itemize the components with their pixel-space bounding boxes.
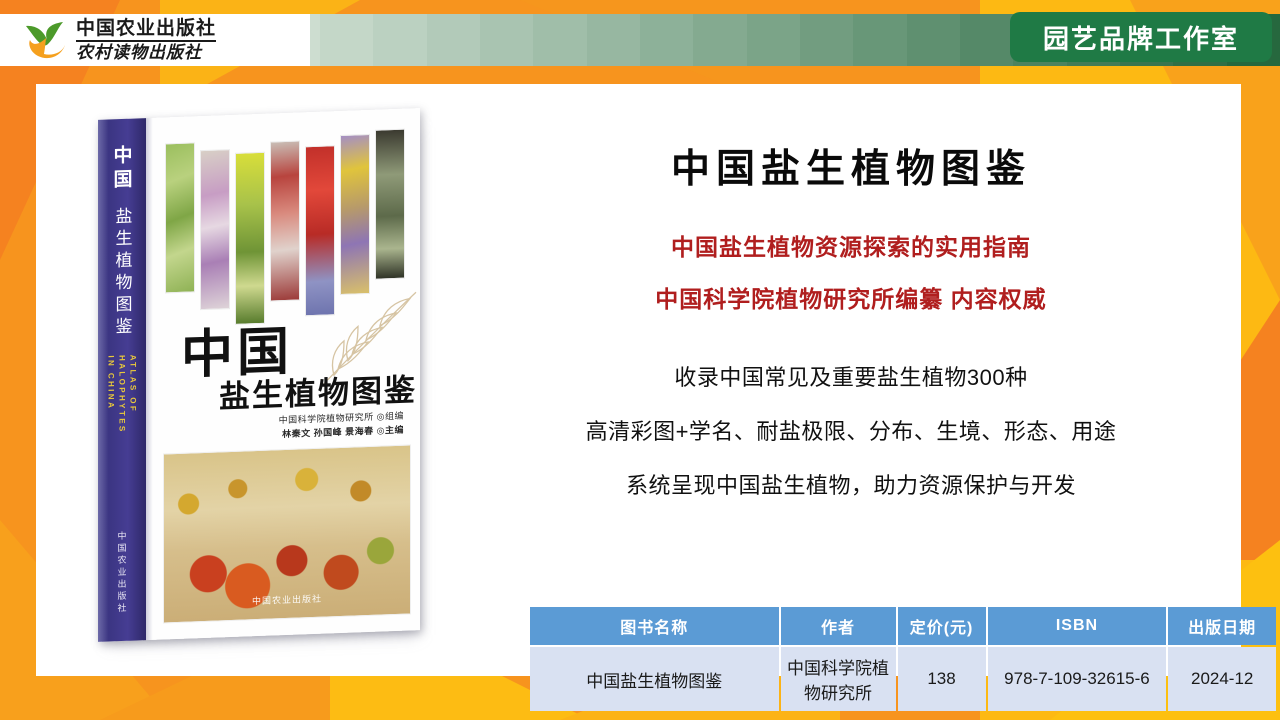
gradient-bar-12 xyxy=(587,14,640,66)
book-spine: 中国 盐生植物图鉴 ATLAS OF HALOPHYTES IN CHINA 中… xyxy=(98,118,146,642)
column-header-author: 作者 xyxy=(781,607,896,645)
gradient-bar-17 xyxy=(853,14,906,66)
gradient-bar-7 xyxy=(320,14,373,66)
spine-title-top: 中国 xyxy=(109,145,136,194)
cover-bottom-photo xyxy=(163,444,411,623)
description-line-2: 高清彩图+学名、耐盐极限、分布、生境、形态、用途 xyxy=(491,414,1211,446)
column-header-price: 定价(元) xyxy=(898,607,986,645)
gradient-bar-11 xyxy=(533,14,586,66)
header-band: 中国农业出版社 农村读物出版社 园艺品牌工作室 xyxy=(0,0,1280,72)
cover-photo-4 xyxy=(270,140,300,301)
publisher-name-line2: 农村读物出版社 xyxy=(76,42,216,62)
gradient-bar-19 xyxy=(960,14,1013,66)
cover-photo-3 xyxy=(235,152,265,325)
cell-book-author: 中国科学院植物研究所 xyxy=(781,647,896,711)
content-card: 中国 盐生植物图鉴 ATLAS OF HALOPHYTES IN CHINA 中… xyxy=(36,84,1241,676)
cover-photo-2 xyxy=(200,149,230,310)
publisher-logo: 中国农业出版社 农村读物出版社 xyxy=(0,14,310,66)
cell-book-name: 中国盐生植物图鉴 xyxy=(530,647,779,711)
book-cover: 中国 盐生植物图鉴 ATLAS OF HALOPHYTES IN CHINA 中… xyxy=(98,114,428,644)
book-info-panel: 中国盐生植物图鉴 中国盐生植物资源探索的实用指南 中国科学院植物研究所编纂 内容… xyxy=(491,114,1211,500)
book-spec-table: 图书名称 作者 定价(元) ISBN 出版日期 中国盐生植物图鉴 中国科学院植物… xyxy=(528,605,1278,713)
studio-badge-label: 园艺品牌工作室 xyxy=(1043,19,1239,56)
gradient-bar-8 xyxy=(373,14,426,66)
page-title: 中国盐生植物图鉴 xyxy=(491,138,1211,194)
sprout-logo-icon xyxy=(22,20,68,60)
highlight-line-1: 中国盐生植物资源探索的实用指南 xyxy=(491,228,1211,262)
description-line-1: 收录中国常见及重要盐生植物300种 xyxy=(491,360,1211,392)
table-header-row: 图书名称 作者 定价(元) ISBN 出版日期 xyxy=(530,607,1276,645)
book-front-face: 中国 盐生植物图鉴 中国科学院植物研究所 ◎组编 林秦文 孙国峰 景海春 ◎主编 xyxy=(153,108,420,640)
column-header-isbn: ISBN xyxy=(988,607,1167,645)
cell-book-price: 138 xyxy=(898,647,986,711)
gradient-bar-15 xyxy=(747,14,800,66)
book-body: 中国 盐生植物图鉴 ATLAS OF HALOPHYTES IN CHINA 中… xyxy=(98,108,420,642)
gradient-bar-14 xyxy=(693,14,746,66)
cell-book-isbn: 978-7-109-32615-6 xyxy=(988,647,1167,711)
highlight-line-2: 中国科学院植物研究所编纂 内容权威 xyxy=(491,280,1211,314)
spine-publisher: 中国农业出版社 xyxy=(116,531,129,615)
cover-photo-7 xyxy=(375,129,405,280)
gradient-bar-13 xyxy=(640,14,693,66)
spine-english-title: ATLAS OF HALOPHYTES IN CHINA xyxy=(106,354,139,451)
gradient-bar-9 xyxy=(427,14,480,66)
spine-title-main: 盐生植物图鉴 xyxy=(110,207,135,340)
column-header-pubdate: 出版日期 xyxy=(1168,607,1276,645)
gradient-bar-10 xyxy=(480,14,533,66)
description-line-3: 系统呈现中国盐生植物，助力资源保护与开发 xyxy=(491,468,1211,500)
table-row: 中国盐生植物图鉴 中国科学院植物研究所 138 978-7-109-32615-… xyxy=(530,647,1276,711)
cover-photo-6 xyxy=(340,134,370,295)
gradient-bar-16 xyxy=(800,14,853,66)
column-header-name: 图书名称 xyxy=(530,607,779,645)
gradient-bar-18 xyxy=(907,14,960,66)
publisher-name-line1: 中国农业出版社 xyxy=(76,19,216,42)
cell-book-pubdate: 2024-12 xyxy=(1168,647,1276,711)
book-page-edge xyxy=(146,118,153,640)
cover-photo-1 xyxy=(165,142,195,293)
slide-canvas: 中国农业出版社 农村读物出版社 园艺品牌工作室 中国 盐生植物图鉴 ATLAS … xyxy=(0,0,1280,720)
studio-badge: 园艺品牌工作室 xyxy=(1010,12,1272,62)
